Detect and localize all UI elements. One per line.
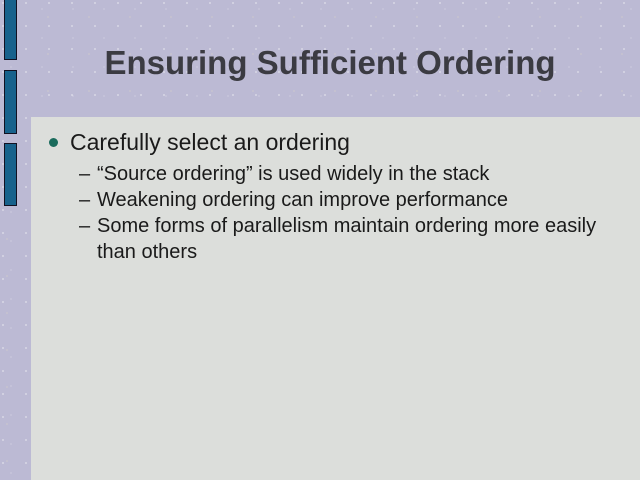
bullet-level1-label: Carefully select an ordering	[70, 128, 350, 157]
slide-title: Ensuring Sufficient Ordering	[30, 44, 630, 82]
accent-bar-middle-decoration	[4, 70, 17, 134]
accent-bar-bottom-decoration	[4, 143, 17, 206]
bullet-level2-label: Some forms of parallelism maintain order…	[97, 213, 624, 265]
bullet-level2: – “Source ordering” is used widely in th…	[79, 161, 624, 187]
bullet-level1: Carefully select an ordering	[49, 128, 350, 157]
dash-marker-icon: –	[79, 213, 97, 239]
bullet-level2: – Weakening ordering can improve perform…	[79, 187, 624, 213]
bullet-dot-icon	[49, 138, 58, 147]
dash-marker-icon: –	[79, 161, 97, 187]
presentation-slide: Ensuring Sufficient Ordering Carefully s…	[0, 0, 640, 480]
bullet-level2: – Some forms of parallelism maintain ord…	[79, 213, 624, 265]
dash-marker-icon: –	[79, 187, 97, 213]
accent-bar-top-decoration	[4, 0, 17, 60]
bullet-level2-label: “Source ordering” is used widely in the …	[97, 161, 624, 187]
sub-bullet-list: – “Source ordering” is used widely in th…	[79, 161, 624, 265]
slide-content-panel: Carefully select an ordering – “Source o…	[31, 117, 640, 480]
bullet-level2-label: Weakening ordering can improve performan…	[97, 187, 624, 213]
